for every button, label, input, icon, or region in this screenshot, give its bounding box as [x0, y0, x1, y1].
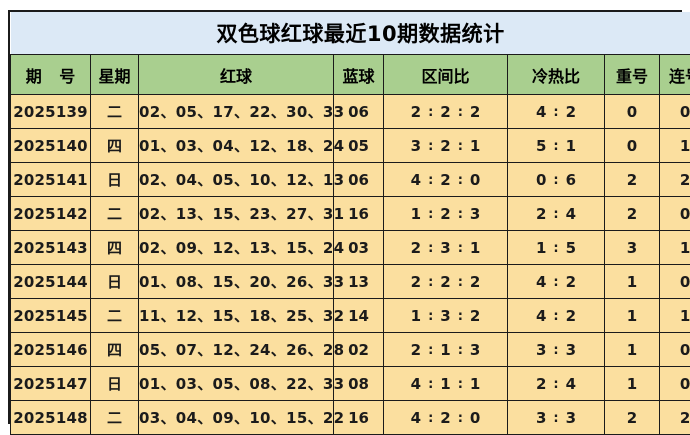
ratio-separator: : — [421, 173, 440, 188]
cell-repeat: 2 — [605, 163, 660, 197]
cell-red-balls: 02、13、15、23、27、31 — [139, 197, 334, 231]
cell-issue: 2025144 — [11, 265, 91, 299]
table-row: 2025139二02、05、17、22、30、33062:2:24:200 — [11, 95, 690, 129]
table-row: 2025147日01、03、05、08、22、33084:1:12:410 — [11, 367, 690, 401]
ratio-separator: : — [546, 309, 565, 324]
ratio-separator: : — [451, 377, 470, 392]
cell-red-balls: 01、03、04、12、18、24 — [139, 129, 334, 163]
zone-value: 3 — [440, 239, 450, 257]
cell-consecutive: 0 — [660, 197, 690, 231]
ratio-separator: : — [421, 275, 440, 290]
cell-zone-ratio: 3:2:1 — [384, 129, 508, 163]
cell-zone-ratio: 2:2:2 — [384, 265, 508, 299]
hot-value: 1 — [536, 239, 546, 257]
cold-value: 2 — [566, 307, 576, 325]
column-header-issue: 期 号 — [11, 55, 91, 95]
cell-repeat: 1 — [605, 333, 660, 367]
zone-value: 3 — [470, 341, 480, 359]
cell-issue: 2025146 — [11, 333, 91, 367]
cell-zone-ratio: 1:2:3 — [384, 197, 508, 231]
cell-zone-ratio: 4:2:0 — [384, 163, 508, 197]
zone-value: 3 — [440, 307, 450, 325]
table-row: 2025141日02、04、05、10、12、13064:2:00:622 — [11, 163, 690, 197]
cell-red-balls: 05、07、12、24、26、28 — [139, 333, 334, 367]
hot-value: 2 — [536, 375, 546, 393]
ratio-separator: : — [421, 241, 440, 256]
ratio-separator: : — [451, 275, 470, 290]
ratio-separator: : — [546, 241, 565, 256]
zone-value: 3 — [411, 137, 421, 155]
hot-value: 5 — [536, 137, 546, 155]
ratio-separator: : — [421, 139, 440, 154]
zone-value: 1 — [470, 137, 480, 155]
cold-value: 3 — [566, 341, 576, 359]
column-header-zone-ratio: 区间比 — [384, 55, 508, 95]
table-row: 2025146四05、07、12、24、26、28022:1:33:310 — [11, 333, 690, 367]
column-header-blue-ball: 蓝球 — [334, 55, 384, 95]
zone-value: 2 — [411, 239, 421, 257]
ratio-separator: : — [546, 377, 565, 392]
zone-value: 1 — [411, 205, 421, 223]
ratio-separator: : — [451, 139, 470, 154]
lottery-stats-table: 双色球红球最近10期数据统计 期 号 星期 红球 蓝球 区间比 冷热比 重号 连… — [10, 12, 690, 435]
ratio-separator: : — [421, 309, 440, 324]
cell-repeat: 0 — [605, 95, 660, 129]
zone-value: 1 — [411, 307, 421, 325]
cell-repeat: 2 — [605, 401, 660, 435]
cell-red-balls: 03、04、09、10、15、22 — [139, 401, 334, 435]
table-row: 2025144日01、08、15、20、26、33132:2:24:210 — [11, 265, 690, 299]
ratio-separator: : — [546, 411, 565, 426]
zone-value: 2 — [440, 273, 450, 291]
cell-week: 四 — [91, 129, 139, 163]
zone-value: 4 — [411, 409, 421, 427]
cell-week: 日 — [91, 367, 139, 401]
zone-value: 1 — [470, 375, 480, 393]
cell-consecutive: 1 — [660, 231, 690, 265]
hot-value: 4 — [536, 273, 546, 291]
ratio-separator: : — [451, 105, 470, 120]
hot-value: 4 — [536, 307, 546, 325]
zone-value: 1 — [470, 239, 480, 257]
zone-value: 0 — [470, 171, 480, 189]
cell-zone-ratio: 4:2:0 — [384, 401, 508, 435]
cell-red-balls: 02、04、05、10、12、13 — [139, 163, 334, 197]
cell-consecutive: 1 — [660, 299, 690, 333]
ratio-separator: : — [421, 377, 440, 392]
cell-repeat: 1 — [605, 367, 660, 401]
cell-issue: 2025141 — [11, 163, 91, 197]
cold-value: 5 — [566, 239, 576, 257]
hot-value: 0 — [536, 171, 546, 189]
cell-consecutive: 2 — [660, 401, 690, 435]
table-row: 2025140四01、03、04、12、18、24053:2:15:101 — [11, 129, 690, 163]
ratio-separator: : — [421, 105, 440, 120]
hot-value: 3 — [536, 341, 546, 359]
column-header-consecutive: 连号 — [660, 55, 690, 95]
hot-value: 3 — [536, 409, 546, 427]
cell-issue: 2025143 — [11, 231, 91, 265]
cell-week: 日 — [91, 265, 139, 299]
ratio-separator: : — [546, 105, 565, 120]
table-title-row: 双色球红球最近10期数据统计 — [11, 12, 690, 55]
cell-hot-cold-ratio: 5:1 — [508, 129, 605, 163]
table-header-row: 期 号 星期 红球 蓝球 区间比 冷热比 重号 连号 — [11, 55, 690, 95]
column-header-week: 星期 — [91, 55, 139, 95]
table-row: 2025148二03、04、09、10、15、22164:2:03:322 — [11, 401, 690, 435]
ratio-separator: : — [421, 411, 440, 426]
zone-value: 2 — [440, 205, 450, 223]
hot-value: 2 — [536, 205, 546, 223]
cell-week: 日 — [91, 163, 139, 197]
ratio-separator: : — [451, 173, 470, 188]
zone-value: 2 — [440, 171, 450, 189]
ratio-separator: : — [421, 207, 440, 222]
stats-sheet: 双色球红球最近10期数据统计 期 号 星期 红球 蓝球 区间比 冷热比 重号 连… — [8, 10, 682, 424]
cell-zone-ratio: 1:3:2 — [384, 299, 508, 333]
page-title: 双色球红球最近10期数据统计 — [11, 12, 690, 55]
cell-hot-cold-ratio: 4:2 — [508, 299, 605, 333]
ratio-separator: : — [421, 343, 440, 358]
cell-issue: 2025142 — [11, 197, 91, 231]
cold-value: 2 — [566, 273, 576, 291]
cell-issue: 2025148 — [11, 401, 91, 435]
cell-hot-cold-ratio: 3:3 — [508, 401, 605, 435]
ratio-separator: : — [546, 173, 565, 188]
ratio-separator: : — [451, 343, 470, 358]
cell-repeat: 1 — [605, 299, 660, 333]
zone-value: 4 — [411, 375, 421, 393]
cold-value: 3 — [566, 409, 576, 427]
cell-red-balls: 02、09、12、13、15、24 — [139, 231, 334, 265]
zone-value: 2 — [470, 307, 480, 325]
cold-value: 4 — [566, 205, 576, 223]
zone-value: 2 — [440, 103, 450, 121]
cell-red-balls: 01、03、05、08、22、33 — [139, 367, 334, 401]
hot-value: 4 — [536, 103, 546, 121]
cold-value: 1 — [566, 137, 576, 155]
cold-value: 6 — [566, 171, 576, 189]
cell-hot-cold-ratio: 2:4 — [508, 197, 605, 231]
cold-value: 2 — [566, 103, 576, 121]
ratio-separator: : — [546, 275, 565, 290]
cell-red-balls: 02、05、17、22、30、33 — [139, 95, 334, 129]
cell-repeat: 3 — [605, 231, 660, 265]
cell-red-balls: 11、12、15、18、25、32 — [139, 299, 334, 333]
cell-week: 二 — [91, 95, 139, 129]
ratio-separator: : — [451, 241, 470, 256]
zone-value: 2 — [470, 103, 480, 121]
cell-red-balls: 01、08、15、20、26、33 — [139, 265, 334, 299]
zone-value: 2 — [440, 409, 450, 427]
ratio-separator: : — [546, 139, 565, 154]
cell-issue: 2025140 — [11, 129, 91, 163]
cell-week: 二 — [91, 401, 139, 435]
cell-consecutive: 0 — [660, 367, 690, 401]
cell-week: 四 — [91, 231, 139, 265]
table-row: 2025145二11、12、15、18、25、32141:3:24:211 — [11, 299, 690, 333]
ratio-separator: : — [451, 309, 470, 324]
cell-week: 二 — [91, 299, 139, 333]
cell-consecutive: 1 — [660, 129, 690, 163]
cell-consecutive: 0 — [660, 333, 690, 367]
ratio-separator: : — [546, 343, 565, 358]
cold-value: 4 — [566, 375, 576, 393]
cell-zone-ratio: 4:1:1 — [384, 367, 508, 401]
cell-hot-cold-ratio: 4:2 — [508, 95, 605, 129]
ratio-separator: : — [546, 207, 565, 222]
cell-repeat: 1 — [605, 265, 660, 299]
cell-hot-cold-ratio: 0:6 — [508, 163, 605, 197]
zone-value: 0 — [470, 409, 480, 427]
table-row: 2025142二02、13、15、23、27、31161:2:32:420 — [11, 197, 690, 231]
cell-consecutive: 0 — [660, 95, 690, 129]
cell-zone-ratio: 2:2:2 — [384, 95, 508, 129]
cell-zone-ratio: 2:1:3 — [384, 333, 508, 367]
column-header-repeat: 重号 — [605, 55, 660, 95]
cell-consecutive: 0 — [660, 265, 690, 299]
cell-repeat: 2 — [605, 197, 660, 231]
cell-consecutive: 2 — [660, 163, 690, 197]
cell-hot-cold-ratio: 2:4 — [508, 367, 605, 401]
zone-value: 3 — [470, 205, 480, 223]
ratio-separator: : — [451, 411, 470, 426]
cell-week: 四 — [91, 333, 139, 367]
cell-issue: 2025147 — [11, 367, 91, 401]
cell-hot-cold-ratio: 3:3 — [508, 333, 605, 367]
column-header-hot-cold-ratio: 冷热比 — [508, 55, 605, 95]
zone-value: 1 — [440, 341, 450, 359]
column-header-red-balls: 红球 — [139, 55, 334, 95]
table-row: 2025143四02、09、12、13、15、24032:3:11:531 — [11, 231, 690, 265]
zone-value: 4 — [411, 171, 421, 189]
zone-value: 2 — [411, 341, 421, 359]
ratio-separator: : — [451, 207, 470, 222]
zone-value: 2 — [411, 103, 421, 121]
zone-value: 2 — [470, 273, 480, 291]
zone-value: 2 — [411, 273, 421, 291]
cell-issue: 2025145 — [11, 299, 91, 333]
cell-hot-cold-ratio: 4:2 — [508, 265, 605, 299]
cell-issue: 2025139 — [11, 95, 91, 129]
cell-zone-ratio: 2:3:1 — [384, 231, 508, 265]
zone-value: 1 — [440, 375, 450, 393]
cell-week: 二 — [91, 197, 139, 231]
cell-hot-cold-ratio: 1:5 — [508, 231, 605, 265]
cell-repeat: 0 — [605, 129, 660, 163]
zone-value: 2 — [440, 137, 450, 155]
